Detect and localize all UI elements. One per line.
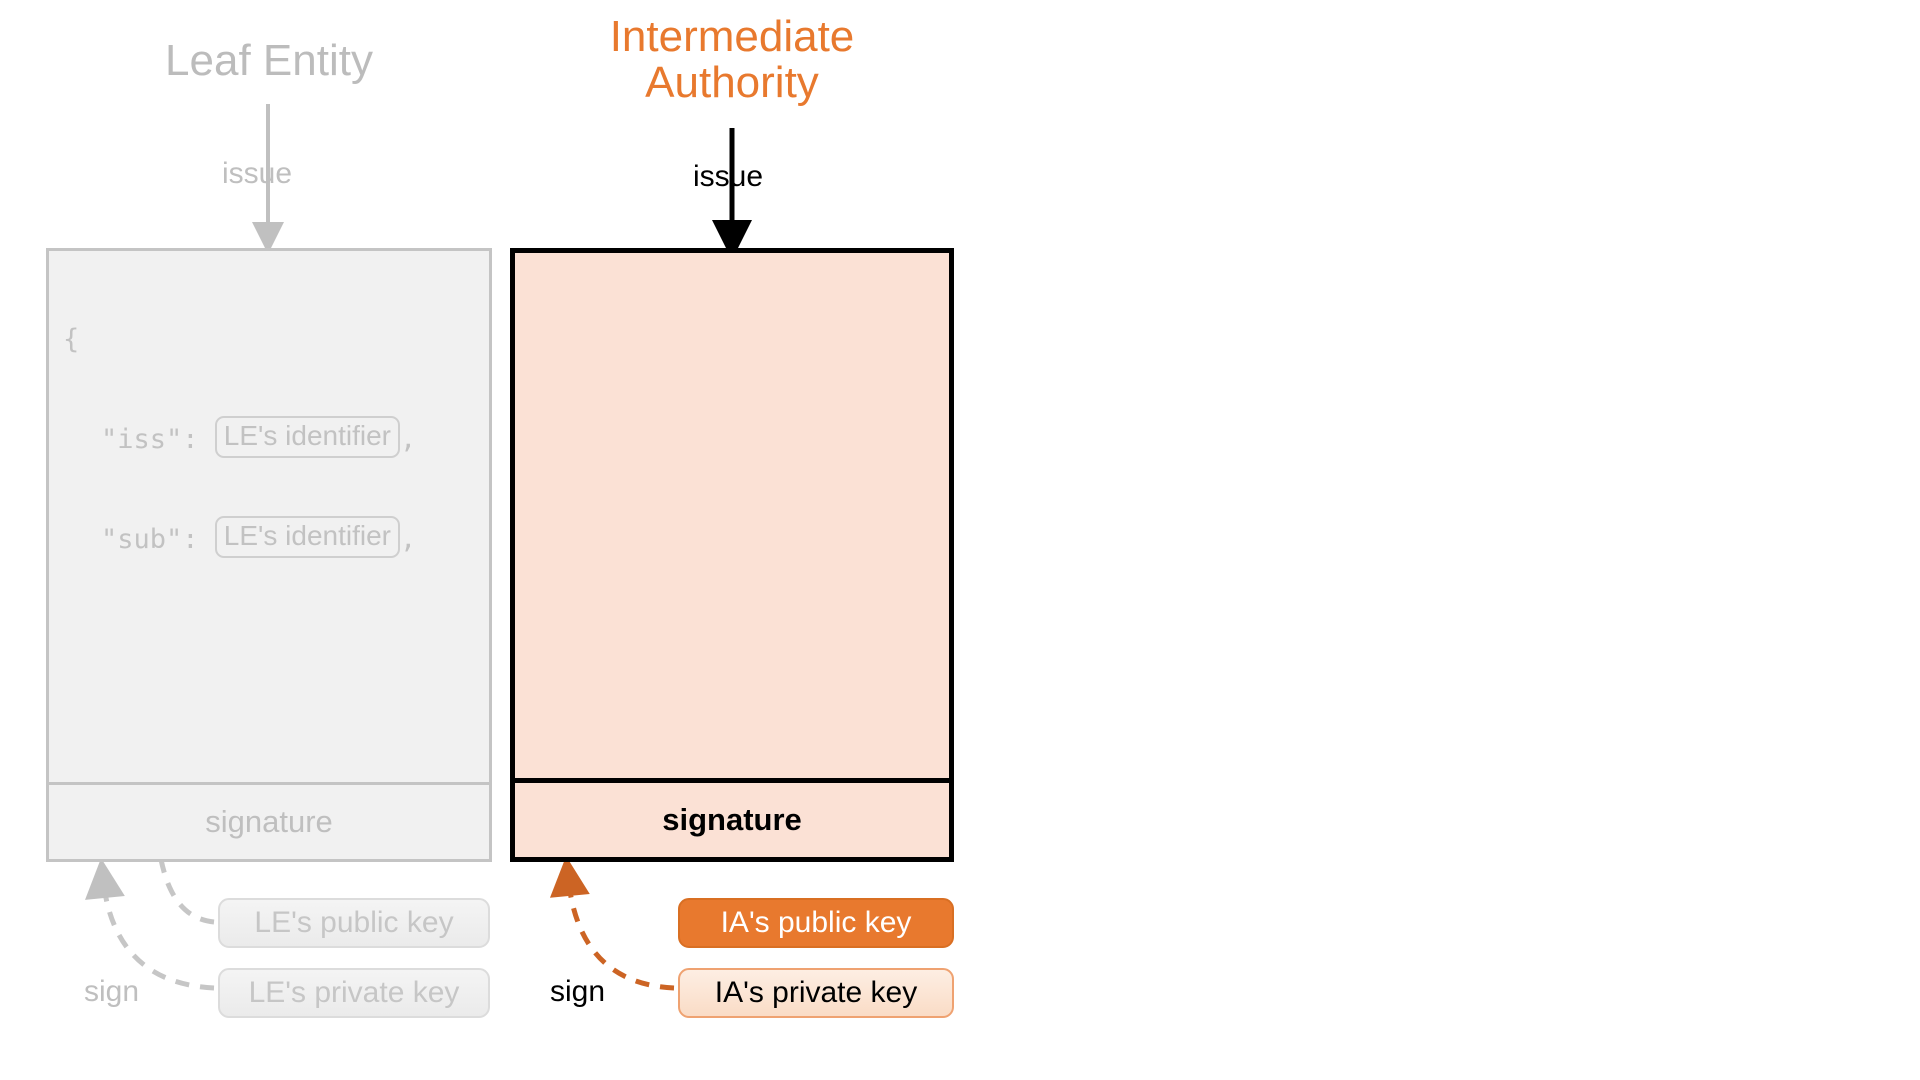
right-issue-label: issue xyxy=(693,160,763,194)
json-key-iss: "iss": xyxy=(101,424,215,455)
ia-sign-label: sign xyxy=(550,975,605,1009)
leaf-entity-json: { "iss": LE's identifier, "sub": LE's id… xyxy=(49,265,416,785)
chip-sub-value: LE's identifier xyxy=(215,516,400,558)
right-column-title: Intermediate Authority xyxy=(510,14,954,106)
intermediate-authority-certificate-body xyxy=(515,253,949,783)
json-line-blank-2 xyxy=(49,715,416,765)
json-line-open-brace: { xyxy=(49,315,416,365)
json-comma-sub: , xyxy=(400,524,416,555)
le-private-key-pill[interactable]: LE's private key xyxy=(218,968,490,1018)
json-line-sub: "sub": LE's identifier, xyxy=(49,515,416,565)
le-sign-connector xyxy=(103,878,214,988)
json-line-iss: "iss": LE's identifier, xyxy=(49,415,416,465)
le-sign-label: sign xyxy=(84,975,139,1009)
left-issue-label: issue xyxy=(222,157,292,191)
json-comma-iss: , xyxy=(400,424,416,455)
chip-iss-value: LE's identifier xyxy=(215,416,400,458)
ia-public-key-pill[interactable]: IA's public key xyxy=(678,898,954,948)
leaf-entity-certificate: { "iss": LE's identifier, "sub": LE's id… xyxy=(46,248,492,862)
json-line-blank-1 xyxy=(49,615,416,665)
ia-private-key-pill[interactable]: IA's private key xyxy=(678,968,954,1018)
le-public-key-pill[interactable]: LE's public key xyxy=(218,898,490,948)
json-token: { xyxy=(63,324,79,355)
json-key-sub: "sub": xyxy=(101,524,215,555)
intermediate-authority-signature-row: signature xyxy=(515,778,949,857)
intermediate-authority-certificate: signature xyxy=(510,248,954,862)
leaf-entity-signature-row: signature xyxy=(49,782,489,859)
ia-sign-connector xyxy=(568,876,674,988)
left-column-title: Leaf Entity xyxy=(46,38,492,84)
leaf-entity-certificate-body: { "iss": LE's identifier, "sub": LE's id… xyxy=(49,251,489,785)
diagram-canvas: Leaf Entity Intermediate Authority issue… xyxy=(0,0,1920,1080)
